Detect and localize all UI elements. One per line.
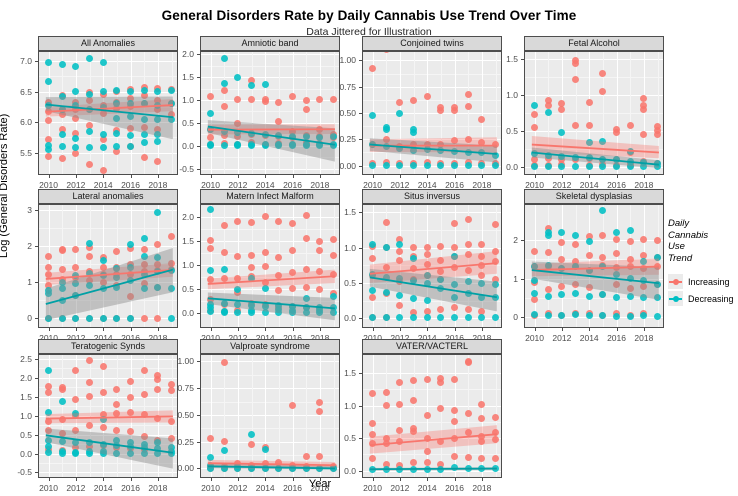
x-tick-mark	[589, 328, 590, 331]
y-tick-label: 1	[484, 274, 518, 284]
legend-title-line: Daily	[668, 218, 738, 230]
y-tick-mark	[35, 378, 38, 379]
x-tick-label: 2010	[201, 483, 220, 493]
facet-strip-label: VATER/VACTERL	[396, 342, 468, 351]
y-tick-label: 1.5	[322, 207, 356, 217]
facet-plot-area	[38, 354, 178, 478]
y-tick-mark	[359, 139, 362, 140]
y-tick-label: 0.25	[322, 134, 356, 144]
y-tick-mark	[197, 241, 200, 242]
y-tick-mark	[197, 289, 200, 290]
y-tick-mark	[359, 471, 362, 472]
y-tick-mark	[197, 54, 200, 55]
y-tick-label: 3	[0, 205, 32, 215]
y-tick-mark	[35, 122, 38, 123]
y-tick-mark	[35, 435, 38, 436]
y-tick-label: 0.0	[160, 308, 194, 318]
trend-overlay	[201, 355, 339, 477]
x-tick-mark	[103, 478, 104, 481]
y-tick-label: 0	[0, 313, 32, 323]
x-tick-mark	[238, 328, 239, 331]
y-tick-mark	[197, 361, 200, 362]
y-tick-mark	[197, 169, 200, 170]
y-tick-label: 0.5	[160, 284, 194, 294]
y-tick-label: 2.0	[160, 212, 194, 222]
x-tick-mark	[103, 175, 104, 178]
trend-overlay	[39, 205, 177, 327]
y-tick-mark	[521, 240, 524, 241]
facet-plot-area	[200, 354, 340, 478]
trend-overlay	[363, 355, 501, 477]
y-tick-label: 0.0	[322, 466, 356, 476]
x-tick-mark	[455, 328, 456, 331]
y-tick-label: -0.5	[160, 164, 194, 174]
facet-strip: Matern Infect Malform	[200, 189, 340, 204]
x-tick-label: 2016	[121, 483, 140, 493]
x-tick-mark	[265, 328, 266, 331]
legend-label: Increasing	[688, 277, 730, 287]
x-tick-mark	[562, 328, 563, 331]
legend-key-swatch	[668, 274, 683, 289]
facet-strip-label: Skeletal dysplasias	[556, 192, 633, 201]
facet-panel: Amniotic band-0.50.00.51.01.52.020102012…	[200, 36, 340, 175]
x-tick-mark	[293, 328, 294, 331]
x-tick-mark	[238, 478, 239, 481]
facet-panel: Skeletal dysplasias012201020122014201620…	[524, 189, 664, 328]
y-tick-mark	[197, 77, 200, 78]
x-tick-mark	[76, 175, 77, 178]
y-tick-label: 6.5	[0, 87, 32, 97]
x-tick-mark	[373, 328, 374, 331]
y-tick-mark	[359, 212, 362, 213]
x-tick-label: 2012	[552, 333, 571, 343]
trend-overlay	[525, 205, 663, 327]
y-tick-mark	[359, 373, 362, 374]
x-tick-label: 2014	[94, 483, 113, 493]
y-tick-label: 1.00	[322, 55, 356, 65]
y-tick-mark	[197, 123, 200, 124]
facet-plot-area	[200, 51, 340, 175]
x-tick-mark	[373, 478, 374, 481]
y-tick-label: 0.0	[160, 141, 194, 151]
y-tick-label: 0.5	[322, 278, 356, 288]
facet-strip-label: Matern Infect Malform	[226, 192, 314, 201]
y-tick-mark	[521, 317, 524, 318]
y-tick-label: 0.00	[322, 161, 356, 171]
y-tick-label: 0.5	[0, 430, 32, 440]
y-tick-mark	[197, 415, 200, 416]
y-tick-mark	[197, 100, 200, 101]
facet-strip-label: Valproate syndrome	[230, 342, 310, 351]
facet-plot-area	[524, 204, 664, 328]
facet-panel: All Anomalies5.56.06.57.0201020122014201…	[38, 36, 178, 175]
y-tick-mark	[197, 313, 200, 314]
x-tick-mark	[562, 175, 563, 178]
y-tick-mark	[359, 248, 362, 249]
y-tick-label: 0.0	[484, 162, 518, 172]
y-tick-label: 0.50	[322, 108, 356, 118]
y-tick-label: 1.00	[160, 356, 194, 366]
y-tick-mark	[197, 146, 200, 147]
y-tick-mark	[197, 217, 200, 218]
legend-items: IncreasingDecreasing	[668, 273, 738, 307]
x-tick-mark	[158, 478, 159, 481]
y-tick-mark	[35, 92, 38, 93]
y-tick-mark	[35, 318, 38, 319]
y-tick-label: 1.5	[322, 368, 356, 378]
x-tick-mark	[211, 478, 212, 481]
legend-entry-decreasing[interactable]: Decreasing	[668, 290, 738, 307]
y-tick-label: 0	[484, 312, 518, 322]
x-tick-label: 2010	[525, 333, 544, 343]
x-tick-mark	[589, 175, 590, 178]
chart-title: General Disorders Rate by Daily Cannabis…	[0, 8, 738, 23]
y-tick-mark	[35, 397, 38, 398]
y-tick-label: 1	[0, 277, 32, 287]
x-tick-mark	[49, 175, 50, 178]
y-tick-mark	[35, 359, 38, 360]
x-tick-mark	[400, 328, 401, 331]
y-tick-label: 2.0	[0, 373, 32, 383]
x-tick-label: 2012	[228, 483, 247, 493]
x-tick-mark	[455, 175, 456, 178]
facet-plot-area	[362, 354, 502, 478]
facet-panel: VATER/VACTERL0.00.51.01.5201020122014201…	[362, 339, 502, 478]
x-tick-mark	[482, 175, 483, 178]
y-tick-mark	[35, 246, 38, 247]
y-tick-label: 0.0	[322, 313, 356, 323]
legend-title-line: Trend	[668, 253, 738, 265]
x-tick-label: 2018	[634, 333, 653, 343]
facet-strip-label: Conjoined twins	[400, 39, 464, 48]
y-tick-mark	[35, 472, 38, 473]
y-tick-mark	[521, 279, 524, 280]
y-tick-label: 1.5	[160, 72, 194, 82]
facet-strip: Lateral anomalies	[38, 189, 178, 204]
confidence-band	[46, 429, 173, 469]
x-tick-mark	[103, 328, 104, 331]
y-tick-mark	[35, 153, 38, 154]
x-tick-label: 2018	[148, 483, 167, 493]
y-tick-label: 2.0	[160, 49, 194, 59]
y-tick-mark	[35, 454, 38, 455]
confidence-band	[46, 97, 173, 140]
trend-overlay	[525, 52, 663, 174]
y-tick-mark	[35, 61, 38, 62]
x-tick-mark	[265, 175, 266, 178]
facet-strip: Amniotic band	[200, 36, 340, 51]
y-tick-label: 0.50	[160, 410, 194, 420]
y-tick-label: 0.75	[322, 82, 356, 92]
x-tick-mark	[482, 328, 483, 331]
legend-label: Decreasing	[688, 294, 734, 304]
x-tick-label: 2016	[283, 483, 302, 493]
y-tick-label: 2.5	[0, 354, 32, 364]
y-tick-label: 0.00	[160, 463, 194, 473]
x-tick-label: 2016	[445, 483, 464, 493]
legend-title-line: Use	[668, 241, 738, 253]
facet-panel: Lateral anomalies01232010201220142016201…	[38, 189, 178, 328]
x-tick-mark	[49, 478, 50, 481]
y-tick-mark	[35, 416, 38, 417]
x-tick-mark	[76, 478, 77, 481]
y-tick-mark	[359, 318, 362, 319]
y-tick-mark	[359, 283, 362, 284]
y-axis-title: Log (General Disorders Rate)	[0, 114, 10, 258]
legend-title-line: Cannabis	[668, 230, 738, 242]
y-tick-label: 1.0	[160, 260, 194, 270]
x-tick-mark	[293, 175, 294, 178]
y-tick-label: 1.0	[160, 95, 194, 105]
y-tick-mark	[35, 210, 38, 211]
y-tick-mark	[359, 113, 362, 114]
facet-strip: VATER/VACTERL	[362, 339, 502, 354]
facet-plot-area	[200, 204, 340, 328]
facet-plot-area	[362, 51, 502, 175]
x-tick-mark	[644, 328, 645, 331]
x-tick-mark	[320, 328, 321, 331]
y-tick-mark	[521, 167, 524, 168]
confidence-band	[46, 248, 173, 320]
x-tick-mark	[535, 328, 536, 331]
x-tick-mark	[265, 478, 266, 481]
trend-overlay	[39, 52, 177, 174]
x-tick-mark	[320, 175, 321, 178]
y-tick-label: 1.0	[0, 411, 32, 421]
legend-key-swatch	[668, 291, 683, 306]
legend: DailyCannabisUseTrend IncreasingDecreasi…	[668, 218, 738, 307]
y-tick-label: 1.5	[484, 54, 518, 64]
x-tick-mark	[158, 328, 159, 331]
x-tick-mark	[373, 175, 374, 178]
facet-strip: Valproate syndrome	[200, 339, 340, 354]
x-tick-mark	[427, 478, 428, 481]
x-tick-mark	[320, 478, 321, 481]
x-tick-mark	[427, 175, 428, 178]
y-tick-mark	[521, 95, 524, 96]
facet-strip: Situs inversus	[362, 189, 502, 204]
y-tick-mark	[359, 438, 362, 439]
y-tick-label: 7.0	[0, 56, 32, 66]
y-tick-mark	[197, 468, 200, 469]
y-tick-label: 2	[0, 241, 32, 251]
y-tick-label: 5.5	[0, 148, 32, 158]
y-tick-label: -0.5	[0, 467, 32, 477]
facet-plot-area	[38, 204, 178, 328]
y-tick-mark	[197, 265, 200, 266]
chart-root: General Disorders Rate by Daily Cannabis…	[0, 0, 738, 496]
y-tick-label: 1.5	[0, 392, 32, 402]
legend-entry-increasing[interactable]: Increasing	[668, 273, 738, 290]
trend-overlay	[363, 205, 501, 327]
x-tick-mark	[535, 175, 536, 178]
legend-title: DailyCannabisUseTrend	[668, 218, 738, 264]
y-tick-label: 0.75	[160, 383, 194, 393]
y-tick-label: 0.5	[484, 126, 518, 136]
x-tick-mark	[76, 328, 77, 331]
facet-strip: Teratogenic Synds	[38, 339, 178, 354]
trend-overlay	[39, 355, 177, 477]
y-tick-mark	[359, 406, 362, 407]
trend-overlay	[201, 52, 339, 174]
y-tick-label: 0.25	[160, 437, 194, 447]
x-tick-label: 2012	[390, 483, 409, 493]
y-tick-mark	[35, 282, 38, 283]
trend-overlay	[201, 205, 339, 327]
facet-plot-area	[362, 204, 502, 328]
facet-panel: Matern Infect Malform0.00.51.01.52.02010…	[200, 189, 340, 328]
facet-strip-label: Teratogenic Synds	[71, 342, 145, 351]
y-tick-label: 1.0	[322, 401, 356, 411]
y-tick-label: 0.5	[322, 433, 356, 443]
facet-strip-label: All Anomalies	[81, 39, 135, 48]
y-tick-mark	[197, 388, 200, 389]
facet-plot-area	[38, 51, 178, 175]
facet-panel: Teratogenic Synds-0.50.00.51.01.52.02.52…	[38, 339, 178, 478]
y-tick-mark	[359, 60, 362, 61]
x-tick-label: 2016	[607, 333, 626, 343]
x-tick-mark	[644, 175, 645, 178]
facet-strip: Fetal Alcohol	[524, 36, 664, 51]
y-tick-label: 0.0	[0, 449, 32, 459]
y-tick-label: 1.5	[160, 236, 194, 246]
y-tick-label: 1.0	[484, 90, 518, 100]
x-tick-mark	[427, 328, 428, 331]
x-tick-label: 2014	[256, 483, 275, 493]
facet-strip-label: Fetal Alcohol	[568, 39, 620, 48]
confidence-band	[370, 269, 497, 312]
y-tick-label: 6.0	[0, 117, 32, 127]
facet-panel: Situs inversus0.00.51.01.520102012201420…	[362, 189, 502, 328]
facet-panel: Conjoined twins0.000.250.500.751.0020102…	[362, 36, 502, 175]
x-tick-mark	[482, 478, 483, 481]
x-tick-mark	[400, 175, 401, 178]
x-tick-label: 2010	[363, 483, 382, 493]
y-tick-mark	[521, 59, 524, 60]
x-tick-mark	[400, 478, 401, 481]
x-tick-mark	[617, 328, 618, 331]
y-tick-mark	[359, 87, 362, 88]
x-tick-mark	[293, 478, 294, 481]
x-tick-mark	[617, 175, 618, 178]
y-tick-label: 0.5	[160, 118, 194, 128]
y-tick-mark	[197, 442, 200, 443]
x-tick-mark	[238, 175, 239, 178]
x-tick-mark	[131, 175, 132, 178]
facet-panel: Valproate syndrome0.000.250.500.751.0020…	[200, 339, 340, 478]
facet-strip: Skeletal dysplasias	[524, 189, 664, 204]
x-tick-label: 2018	[310, 483, 329, 493]
x-tick-mark	[131, 328, 132, 331]
facet-strip-label: Lateral anomalies	[72, 192, 143, 201]
x-tick-mark	[158, 175, 159, 178]
y-tick-label: 1.0	[322, 243, 356, 253]
x-tick-label: 2014	[580, 333, 599, 343]
y-tick-mark	[359, 166, 362, 167]
x-tick-label: 2010	[39, 483, 58, 493]
trend-overlay	[363, 52, 501, 174]
y-tick-label: 2	[484, 235, 518, 245]
trend-line	[370, 469, 497, 470]
facet-plot-area	[524, 51, 664, 175]
y-tick-mark	[521, 131, 524, 132]
x-tick-label: 2012	[66, 483, 85, 493]
x-tick-label: 2018	[472, 483, 491, 493]
x-tick-mark	[49, 328, 50, 331]
facet-strip: All Anomalies	[38, 36, 178, 51]
facet-strip: Conjoined twins	[362, 36, 502, 51]
x-tick-mark	[131, 478, 132, 481]
facet-strip-label: Amniotic band	[241, 39, 298, 48]
facet-panel: Fetal Alcohol0.00.51.01.5201020122014201…	[524, 36, 664, 175]
x-tick-mark	[455, 478, 456, 481]
x-tick-mark	[211, 328, 212, 331]
x-tick-mark	[211, 175, 212, 178]
x-tick-label: 2014	[418, 483, 437, 493]
facet-strip-label: Situs inversus	[404, 192, 460, 201]
